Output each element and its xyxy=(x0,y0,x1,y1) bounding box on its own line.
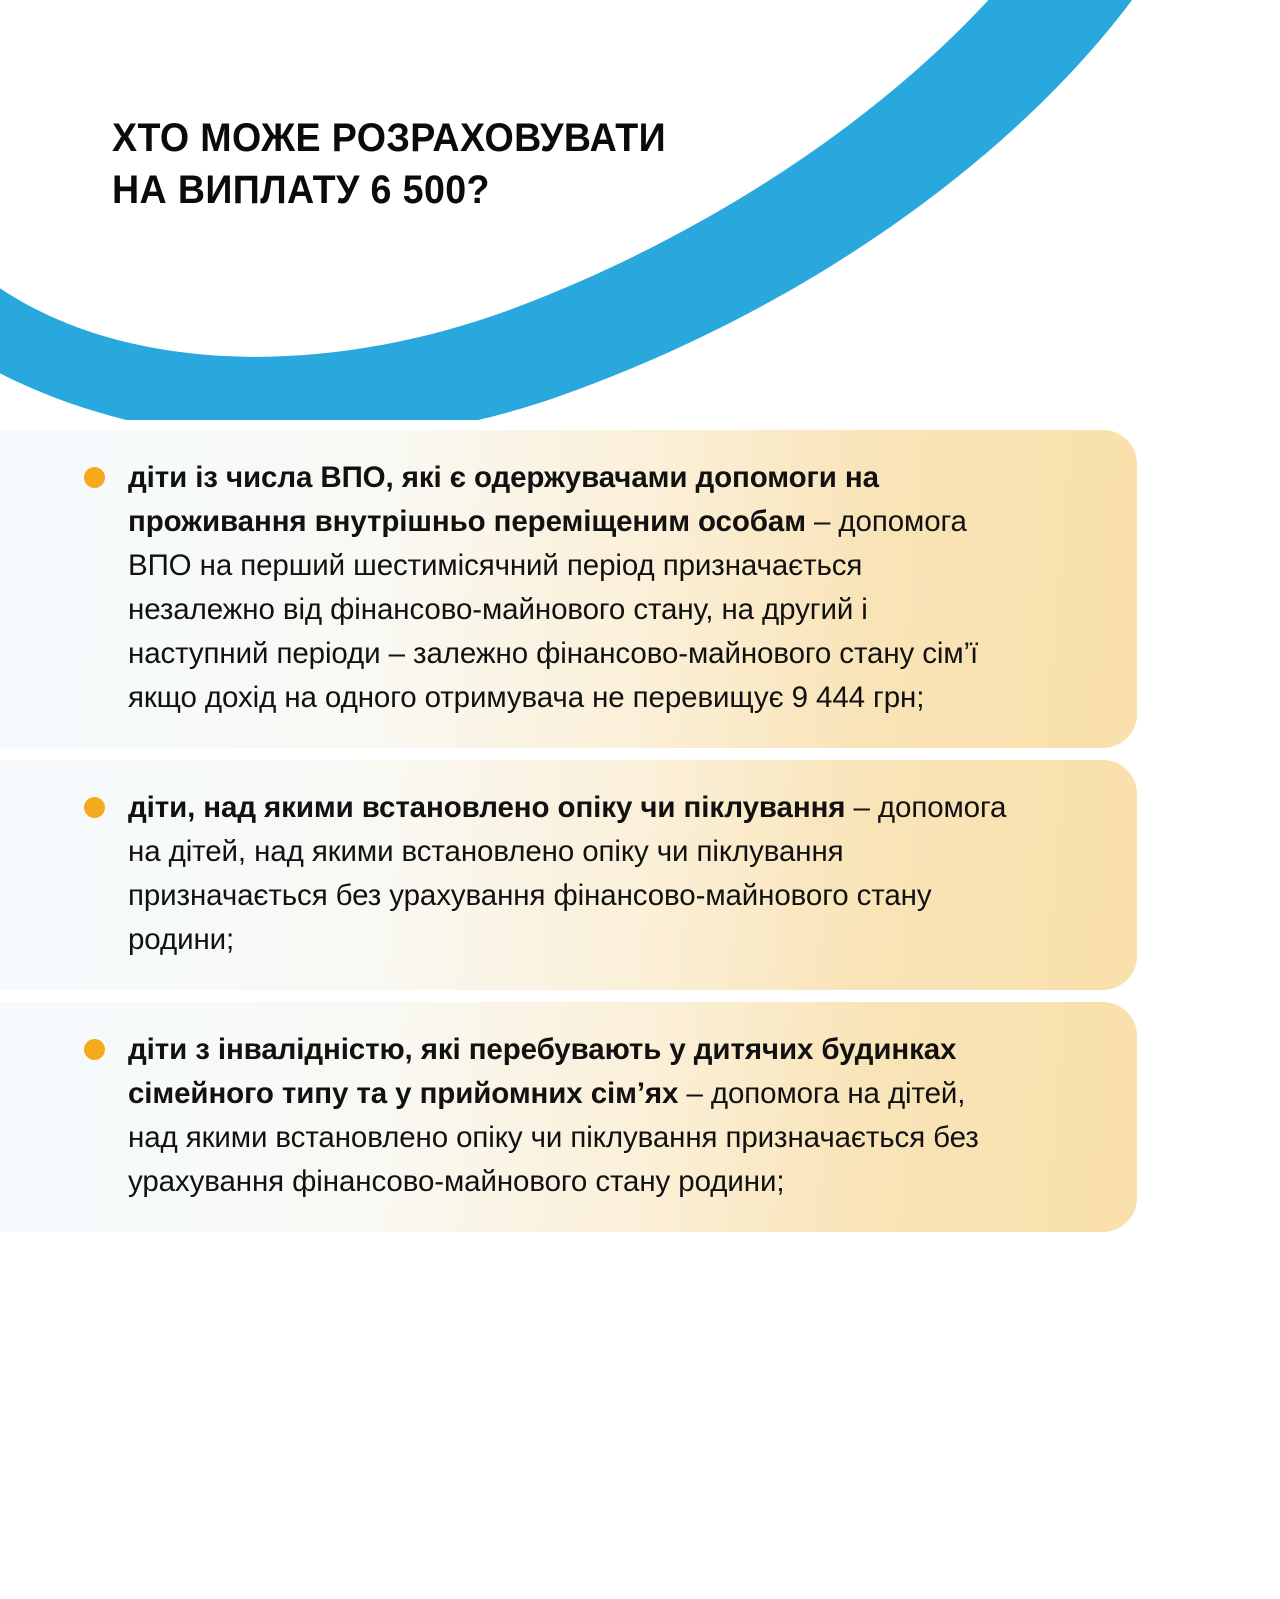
title-line-2: НА ВИПЛАТУ 6 500? xyxy=(112,164,826,216)
orange-dot-bullet-icon xyxy=(84,1039,105,1060)
infographic-page: ХТО МОЖЕ РОЗРАХОВУВАТИ НА ВИПЛАТУ 6 500?… xyxy=(0,0,1280,1599)
title-line-1: ХТО МОЖЕ РОЗРАХОВУВАТИ xyxy=(112,112,826,164)
list-item: діти з інвалідністю, які перебувають у д… xyxy=(0,1002,1137,1232)
page-title: ХТО МОЖЕ РОЗРАХОВУВАТИ НА ВИПЛАТУ 6 500? xyxy=(112,112,872,216)
list-item: діти із числа ВПО, які є одержувачами до… xyxy=(0,430,1137,748)
card-text: діти із числа ВПО, які є одержувачами до… xyxy=(128,456,1008,720)
card-bold-lead: діти, над якими встановлено опіку чи пік… xyxy=(128,791,845,824)
card-text: діти, над якими встановлено опіку чи пік… xyxy=(128,786,1008,962)
card-bold-lead: діти із числа ВПО, які є одержувачами до… xyxy=(128,461,879,538)
orange-dot-bullet-icon xyxy=(84,797,105,818)
card-text: діти з інвалідністю, які перебувають у д… xyxy=(128,1028,1008,1204)
list-item: діти, над якими встановлено опіку чи пік… xyxy=(0,760,1137,990)
benefit-cards-list: діти із числа ВПО, які є одержувачами до… xyxy=(0,430,1137,1244)
orange-dot-bullet-icon xyxy=(84,467,105,488)
